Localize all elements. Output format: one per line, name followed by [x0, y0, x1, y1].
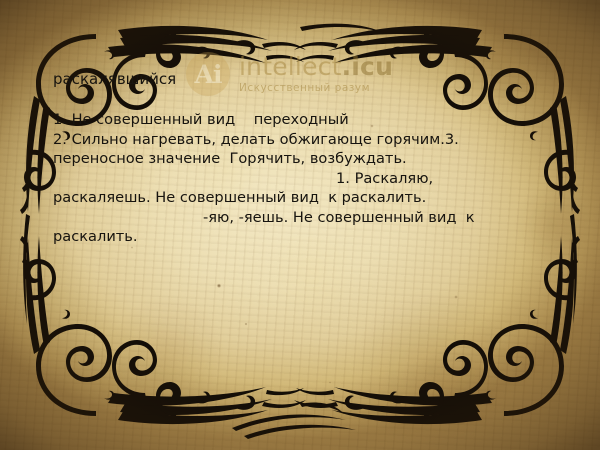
watermark-tagline: Искусственный разум — [239, 83, 393, 94]
definition-line: раскалить. — [53, 227, 553, 247]
definition-line: 1. Не совершенный вид переходный — [53, 110, 553, 130]
watermark-brand-tld: .icu — [342, 52, 393, 81]
definition-line: -яю, -яешь. Не совершенный вид к — [53, 208, 553, 228]
definition-list: 1. Не совершенный вид переходный 2. Силь… — [53, 110, 553, 247]
watermark-brand-name: intellect — [239, 52, 342, 81]
definition-line: 2. Сильно нагревать, делать обжигающе го… — [53, 130, 553, 150]
watermark-brand: intellect.icu — [239, 54, 393, 79]
ai-logo-icon: Ai — [186, 52, 230, 96]
definition-line: переносное значение Горячить, возбуждать… — [53, 149, 553, 169]
page-title: раскалявшийся — [53, 70, 176, 88]
definition-line: 1. Раскаляю, — [53, 169, 553, 189]
ai-logo-text: Ai — [195, 62, 222, 87]
watermark-text-group: intellect.icu Искусственный разум — [239, 54, 393, 94]
watermark: Ai intellect.icu Искусственный разум — [186, 52, 393, 96]
definition-line: раскаляешь. Не совершенный вид к раскали… — [53, 188, 553, 208]
parchment-card: Ai intellect.icu Искусственный разум рас… — [0, 0, 600, 450]
